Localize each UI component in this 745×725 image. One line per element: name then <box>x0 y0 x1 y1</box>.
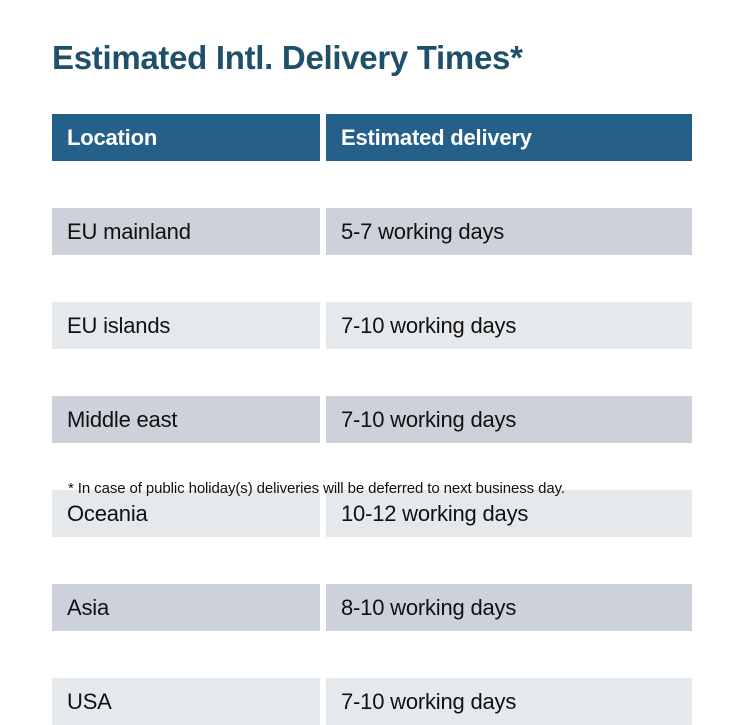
column-header-estimated-delivery: Estimated delivery <box>326 114 692 161</box>
cell-location: EU islands <box>52 302 320 349</box>
cell-estimated-delivery: 5-7 working days <box>326 208 692 255</box>
delivery-times-table: Location Estimated delivery EU mainland … <box>52 114 692 725</box>
cell-estimated-delivery: 7-10 working days <box>326 678 692 725</box>
row-separator-cell <box>326 537 692 584</box>
row-separator <box>52 161 692 208</box>
footnote: * In case of public holiday(s) deliverie… <box>68 480 565 497</box>
column-header-location: Location <box>52 114 320 161</box>
row-separator <box>52 537 692 584</box>
row-separator-cell <box>326 161 692 208</box>
cell-estimated-delivery: 7-10 working days <box>326 396 692 443</box>
cell-location: USA <box>52 678 320 725</box>
row-separator-cell <box>326 255 692 302</box>
table-row: USA 7-10 working days <box>52 678 692 725</box>
cell-location: Oceania <box>52 490 320 537</box>
delivery-times-page: Estimated Intl. Delivery Times* Location… <box>0 0 745 536</box>
row-separator-cell <box>52 255 320 302</box>
row-separator-cell <box>326 349 692 396</box>
row-separator-cell <box>52 631 320 678</box>
row-separator-cell <box>326 631 692 678</box>
row-separator-cell <box>52 161 320 208</box>
row-separator <box>52 631 692 678</box>
cell-estimated-delivery: 8-10 working days <box>326 584 692 631</box>
table-body: EU mainland 5-7 working days EU islands … <box>52 161 692 725</box>
table-row: Asia 8-10 working days <box>52 584 692 631</box>
cell-estimated-delivery: 7-10 working days <box>326 302 692 349</box>
row-separator-cell <box>52 537 320 584</box>
page-title: Estimated Intl. Delivery Times* <box>52 38 523 78</box>
table-row: Middle east 7-10 working days <box>52 396 692 443</box>
table-header-row: Location Estimated delivery <box>52 114 692 161</box>
row-separator <box>52 349 692 396</box>
table-header: Location Estimated delivery <box>52 114 692 161</box>
cell-location: Middle east <box>52 396 320 443</box>
table-row: Oceania 10-12 working days <box>52 490 692 537</box>
cell-estimated-delivery: 10-12 working days <box>326 490 692 537</box>
row-separator-cell <box>52 349 320 396</box>
table-row: EU islands 7-10 working days <box>52 302 692 349</box>
row-separator <box>52 255 692 302</box>
cell-location: EU mainland <box>52 208 320 255</box>
table-row: EU mainland 5-7 working days <box>52 208 692 255</box>
cell-location: Asia <box>52 584 320 631</box>
